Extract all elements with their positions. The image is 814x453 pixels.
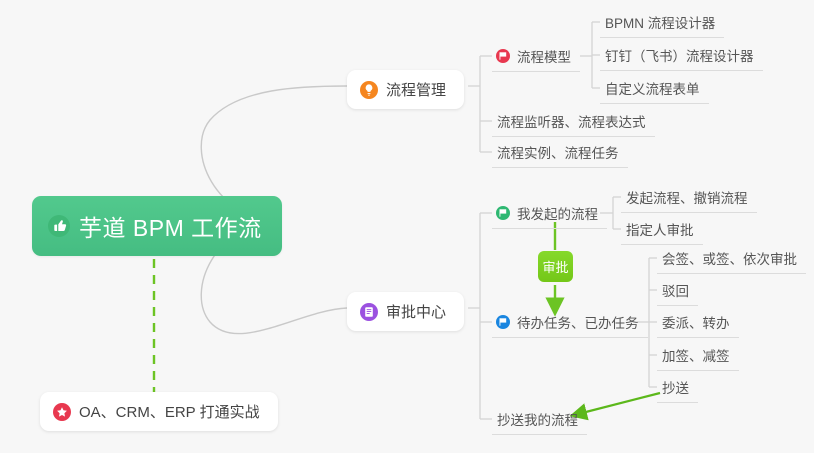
integration-note-label: OA、CRM、ERP 打通实战 (79, 401, 260, 422)
integration-note[interactable]: OA、CRM、ERP 打通实战 (40, 392, 278, 431)
node-custom-form[interactable]: 自定义流程表单 (600, 74, 709, 104)
node-label: 会签、或签、依次审批 (662, 248, 797, 268)
mindmap-canvas: 芋道 BPM 工作流 流程管理 流程模型 BPMN 流程设计器 钉钉（飞书）流程… (0, 0, 814, 453)
star-icon (53, 403, 71, 421)
flag-icon (496, 49, 510, 63)
approval-tag: 审批 (538, 251, 573, 282)
lightbulb-icon (360, 81, 378, 99)
branch-label: 流程管理 (386, 79, 446, 100)
node-label: 钉钉（飞书）流程设计器 (605, 45, 754, 65)
root-label: 芋道 BPM 工作流 (79, 209, 262, 243)
node-launch-cancel-process[interactable]: 发起流程、撤销流程 (621, 183, 757, 213)
node-carbon-copy[interactable]: 抄送 (657, 373, 698, 403)
node-cc-my-process[interactable]: 抄送我的流程 (492, 405, 587, 435)
node-label: 待办任务、已办任务 (517, 312, 639, 332)
node-label: 抄送 (662, 377, 689, 397)
node-label: 发起流程、撤销流程 (626, 187, 748, 207)
node-label: 抄送我的流程 (497, 409, 578, 429)
node-label: 委派、转办 (662, 312, 730, 332)
node-label: BPMN 流程设计器 (605, 12, 715, 32)
clipboard-icon (360, 303, 378, 321)
node-label: 流程模型 (517, 46, 571, 66)
node-delegate-transfer[interactable]: 委派、转办 (657, 308, 739, 338)
node-reject[interactable]: 驳回 (657, 276, 698, 306)
node-label: 自定义流程表单 (605, 78, 700, 98)
approval-tag-label: 审批 (543, 257, 569, 276)
root-node[interactable]: 芋道 BPM 工作流 (32, 196, 282, 256)
node-label: 流程监听器、流程表达式 (497, 111, 646, 131)
branch-label: 审批中心 (386, 301, 446, 322)
node-label: 加签、减签 (662, 345, 730, 365)
node-label: 驳回 (662, 280, 689, 300)
flag-icon (496, 315, 510, 329)
node-process-model[interactable]: 流程模型 (492, 42, 580, 72)
arrow-cc-to-ccmy (578, 393, 660, 414)
node-label: 流程实例、流程任务 (497, 142, 619, 162)
node-countersign[interactable]: 会签、或签、依次审批 (657, 244, 806, 274)
branch-process-management[interactable]: 流程管理 (347, 70, 464, 109)
node-assignee-approval[interactable]: 指定人审批 (621, 215, 703, 245)
node-add-remove-sign[interactable]: 加签、减签 (657, 341, 739, 371)
node-label: 我发起的流程 (517, 203, 598, 223)
node-label: 指定人审批 (626, 219, 694, 239)
node-process-listener[interactable]: 流程监听器、流程表达式 (492, 107, 655, 137)
node-my-started-process[interactable]: 我发起的流程 (492, 199, 607, 229)
node-dingtalk-designer[interactable]: 钉钉（飞书）流程设计器 (600, 41, 763, 71)
branch-approval-center[interactable]: 审批中心 (347, 292, 464, 331)
thumbs-up-icon (48, 215, 70, 237)
node-bpmn-designer[interactable]: BPMN 流程设计器 (600, 8, 724, 38)
node-process-instance[interactable]: 流程实例、流程任务 (492, 138, 628, 168)
node-todo-done-task[interactable]: 待办任务、已办任务 (492, 308, 648, 338)
flag-icon (496, 206, 510, 220)
